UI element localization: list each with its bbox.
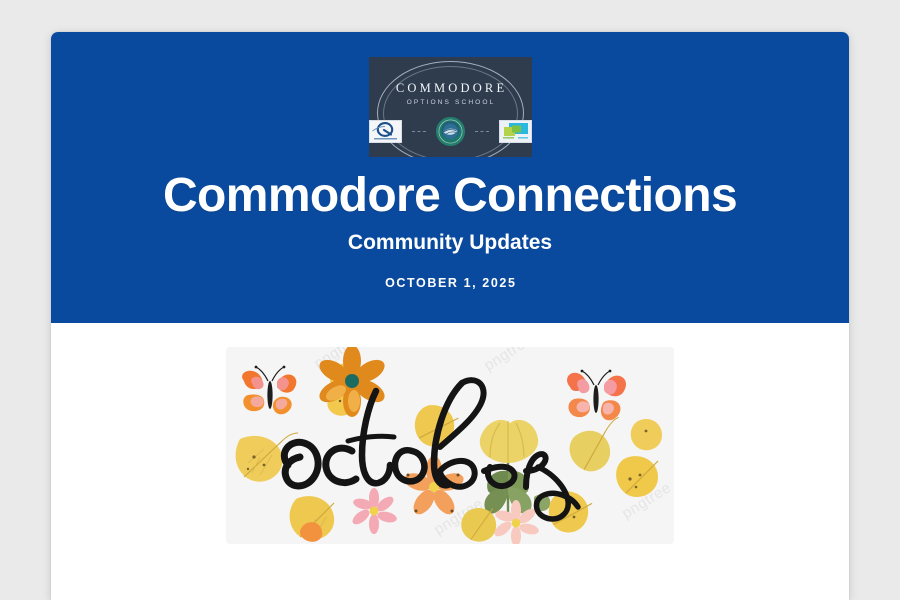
newsletter-subtitle: Community Updates xyxy=(348,231,552,254)
october-lettering-illustration: pngtree pngtree pngtree pngtree xyxy=(226,347,674,544)
newsletter-body: pngtree pngtree pngtree pngtree xyxy=(51,323,849,600)
logo-wordmark: COMMODORE xyxy=(369,82,532,95)
logo-badge-row xyxy=(369,114,532,148)
badge-connector-right xyxy=(475,131,489,132)
newsletter-card: COMMODORE OPTIONS SCHOOL xyxy=(51,32,849,600)
newsletter-date: OCTOBER 1, 2025 xyxy=(383,276,516,290)
district-seal-badge-icon xyxy=(436,117,465,146)
logo-subwordmark: OPTIONS SCHOOL xyxy=(369,100,532,107)
newsletter-header-band: COMMODORE OPTIONS SCHOOL xyxy=(51,32,849,323)
accreditation-badge-icon xyxy=(369,120,402,143)
newsletter-title: Commodore Connections xyxy=(163,171,737,222)
partner-program-badge-icon xyxy=(499,120,532,143)
page-root: COMMODORE OPTIONS SCHOOL xyxy=(0,0,900,600)
badge-connector-left xyxy=(412,131,426,132)
commodore-options-school-logo: COMMODORE OPTIONS SCHOOL xyxy=(369,57,532,157)
